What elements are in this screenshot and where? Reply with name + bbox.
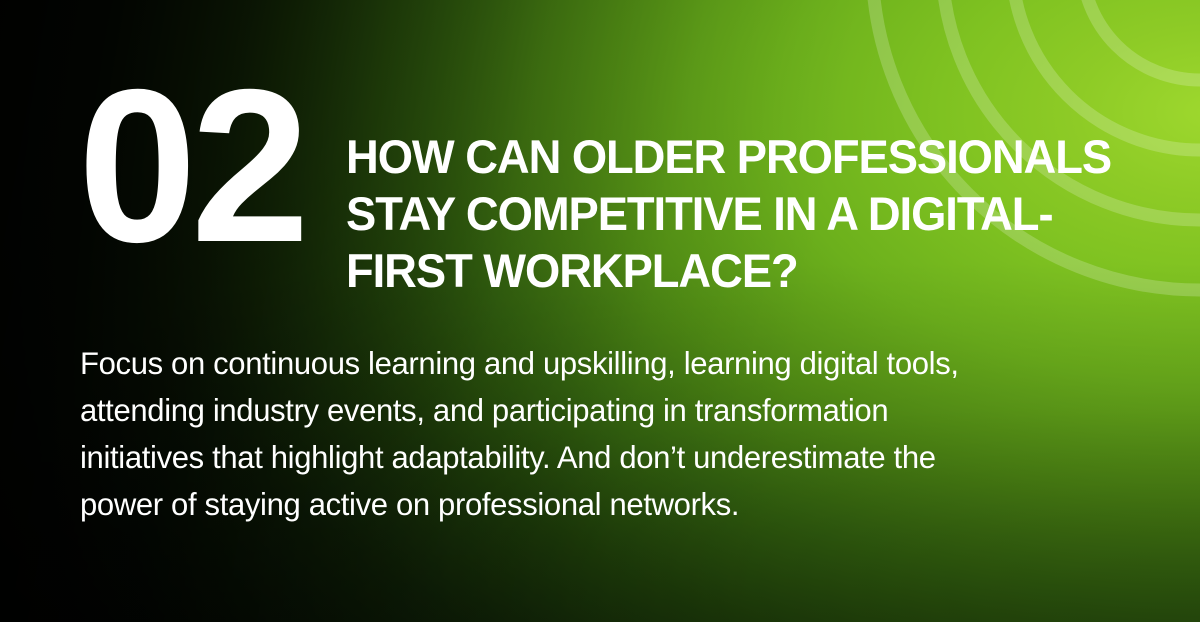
item-number: 02 [78,82,304,252]
body-line-4: power of staying active on professional … [80,481,1134,528]
headline-line-1: HOW CAN OLDER PROFESSIONALS [346,128,1111,185]
question-card: 02 HOW CAN OLDER PROFESSIONALS STAY COMP… [0,0,1200,622]
body-line-3: initiatives that highlight adaptability.… [80,434,1134,481]
body-line-2: attending industry events, and participa… [80,387,1134,434]
body-line-1: Focus on continuous learning and upskill… [80,340,1134,387]
headline-line-3: FIRST WORKPLACE? [346,242,1111,299]
headline-line-2: STAY COMPETITIVE IN A DIGITAL- [346,185,1111,242]
page-title: HOW CAN OLDER PROFESSIONALS STAY COMPETI… [346,113,1111,299]
answer-paragraph: Focus on continuous learning and upskill… [80,340,1134,528]
card-content: 02 HOW CAN OLDER PROFESSIONALS STAY COMP… [0,0,1200,622]
headline-row: 02 HOW CAN OLDER PROFESSIONALS STAY COMP… [78,82,1160,331]
